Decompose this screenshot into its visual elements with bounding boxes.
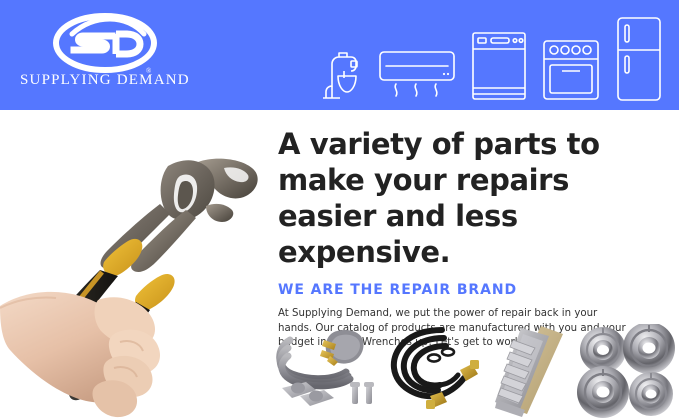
brand-wordmark: SUPPLYING DEMAND (20, 72, 185, 89)
product-metal-bracket-assembly[interactable] (491, 324, 569, 418)
main-content: A variety of parts to make your repairs … (0, 110, 679, 420)
hand-holding-pliers-photo (0, 110, 272, 420)
page-headline: A variety of parts to make your repairs … (278, 126, 638, 270)
oven-range-icon (541, 38, 601, 102)
stand-mixer-icon (318, 48, 364, 102)
air-conditioner-icon (378, 46, 456, 102)
registered-trademark-symbol: ® (146, 67, 151, 75)
sd-oval-logo (50, 12, 160, 74)
copy-column: A variety of parts to make your repairs … (278, 126, 638, 351)
product-supply-hose[interactable] (386, 324, 486, 418)
product-stove-drip-pans[interactable] (575, 324, 679, 418)
page-subheadline: WE ARE THE REPAIR BRAND (278, 282, 638, 298)
dishwasher-icon (470, 30, 528, 102)
product-dryer-power-cord-kit[interactable] (272, 324, 380, 418)
product-image-strip (272, 322, 679, 420)
header-banner: SUPPLYING DEMAND ® (0, 0, 679, 110)
brand-logo[interactable]: SUPPLYING DEMAND ® (20, 10, 185, 100)
appliance-icon-strip (318, 16, 663, 102)
refrigerator-icon (615, 16, 663, 102)
